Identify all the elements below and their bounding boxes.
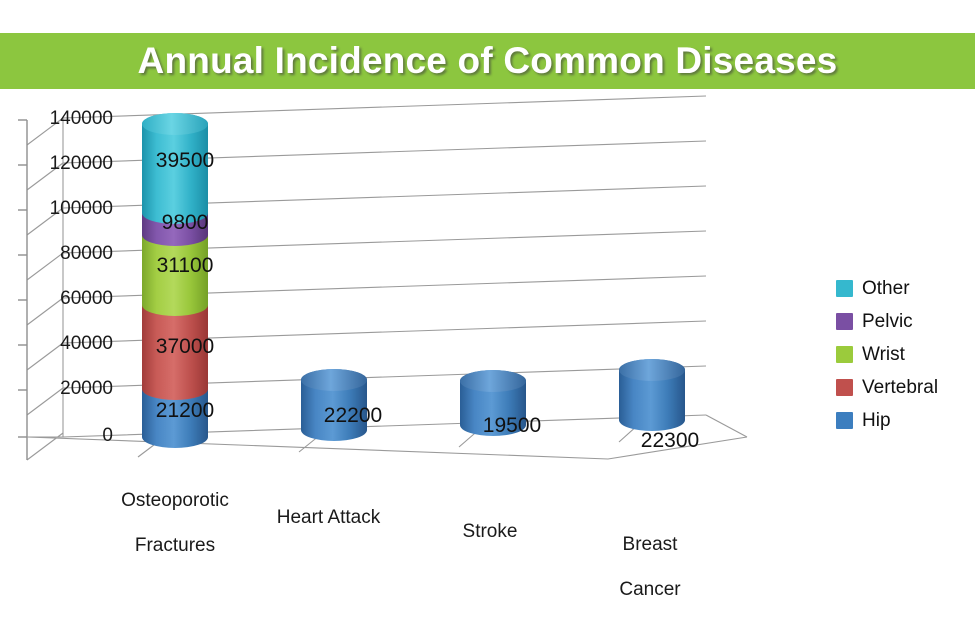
y-tick-label-100000: 100000 <box>0 198 113 220</box>
bar-label-heart-attack: 22200 <box>308 404 398 428</box>
legend-label-hip: Hip <box>862 410 891 432</box>
legend-swatch-other-icon <box>836 280 853 297</box>
bar-label-vertebral: 37000 <box>140 335 230 359</box>
y-tick-label-0: 0 <box>0 425 113 447</box>
x-category-line2: Fractures <box>105 535 245 557</box>
legend-item-other[interactable]: Other <box>836 272 975 305</box>
legend-item-hip[interactable]: Hip <box>836 404 975 437</box>
legend-item-wrist[interactable]: Wrist <box>836 338 975 371</box>
bar-label-pelvic: 9800 <box>140 211 230 235</box>
title-banner: Annual Incidence of Common Diseases <box>0 33 975 89</box>
y-tick-label-60000: 60000 <box>0 288 113 310</box>
x-category-osteoporotic-fractures: Osteoporotic Fractures <box>105 468 245 580</box>
legend-item-pelvic[interactable]: Pelvic <box>836 305 975 338</box>
legend-label-wrist: Wrist <box>862 344 905 366</box>
bar-label-hip: 21200 <box>140 399 230 423</box>
chart-legend: Other Pelvic Wrist Vertebral Hip <box>836 272 975 437</box>
x-category-line2: Cancer <box>580 579 720 601</box>
bar-label-wrist: 31100 <box>140 254 230 278</box>
page-title: Annual Incidence of Common Diseases <box>138 40 838 82</box>
legend-item-vertebral[interactable]: Vertebral <box>836 371 975 404</box>
legend-label-vertebral: Vertebral <box>862 377 938 399</box>
chart-plot-area: 140000 120000 100000 80000 60000 40000 2… <box>0 89 975 582</box>
y-tick-label-140000: 140000 <box>0 108 113 130</box>
x-category-line1: Breast <box>580 534 720 556</box>
x-category-stroke: Stroke <box>420 499 560 566</box>
bar-label-breast-cancer: 22300 <box>625 429 715 453</box>
bar-label-other: 39500 <box>140 149 230 173</box>
bar-label-stroke: 19500 <box>467 414 557 438</box>
y-tick-label-120000: 120000 <box>0 153 113 175</box>
x-category-line1: Osteoporotic <box>105 490 245 512</box>
x-category-line1: Stroke <box>420 521 560 543</box>
y-tick-label-20000: 20000 <box>0 378 113 400</box>
bar-breast-cancer <box>619 359 685 431</box>
legend-swatch-pelvic-icon <box>836 313 853 330</box>
legend-label-other: Other <box>862 278 910 300</box>
legend-swatch-wrist-icon <box>836 346 853 363</box>
legend-swatch-hip-icon <box>836 412 853 429</box>
y-tick-label-80000: 80000 <box>0 243 113 265</box>
y-tick-label-40000: 40000 <box>0 333 113 355</box>
x-category-breast-cancer: Breast Cancer <box>580 512 720 624</box>
x-category-heart-attack: Heart Attack <box>241 485 416 552</box>
legend-swatch-vertebral-icon <box>836 379 853 396</box>
legend-label-pelvic: Pelvic <box>862 311 913 333</box>
x-category-line1: Heart Attack <box>241 507 416 529</box>
